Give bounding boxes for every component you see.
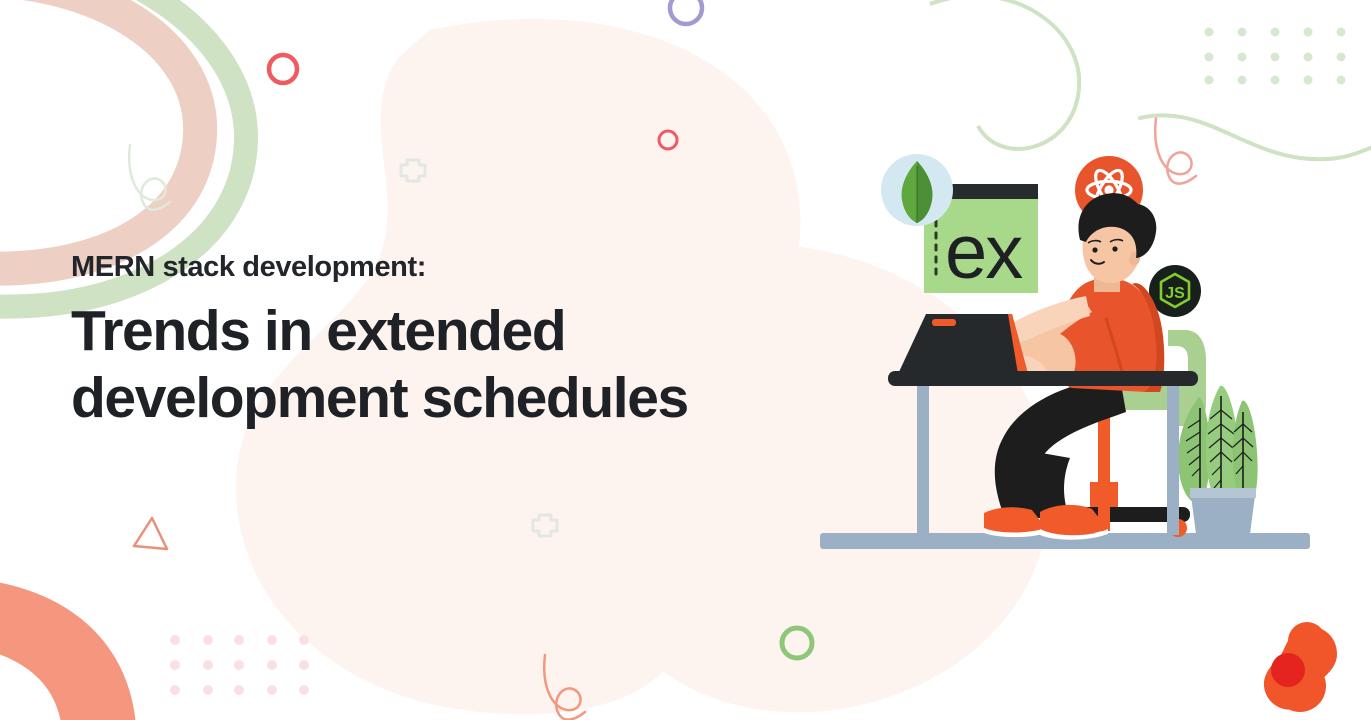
developer-at-desk-illustration: ex JS [0, 0, 1371, 720]
banner-canvas: MERN stack development: Trends in extend… [0, 0, 1371, 720]
desk-top [888, 371, 1198, 386]
laptop-logo [932, 319, 956, 326]
laptop-lid [898, 314, 1028, 374]
chair-post-hub [1090, 482, 1118, 508]
mongodb-leaf-icon [881, 154, 953, 226]
laptop [898, 314, 1028, 374]
person-eye [1092, 247, 1097, 252]
express-card-label: ex [945, 210, 1023, 295]
nodejs-badge-label: JS [1165, 285, 1185, 302]
